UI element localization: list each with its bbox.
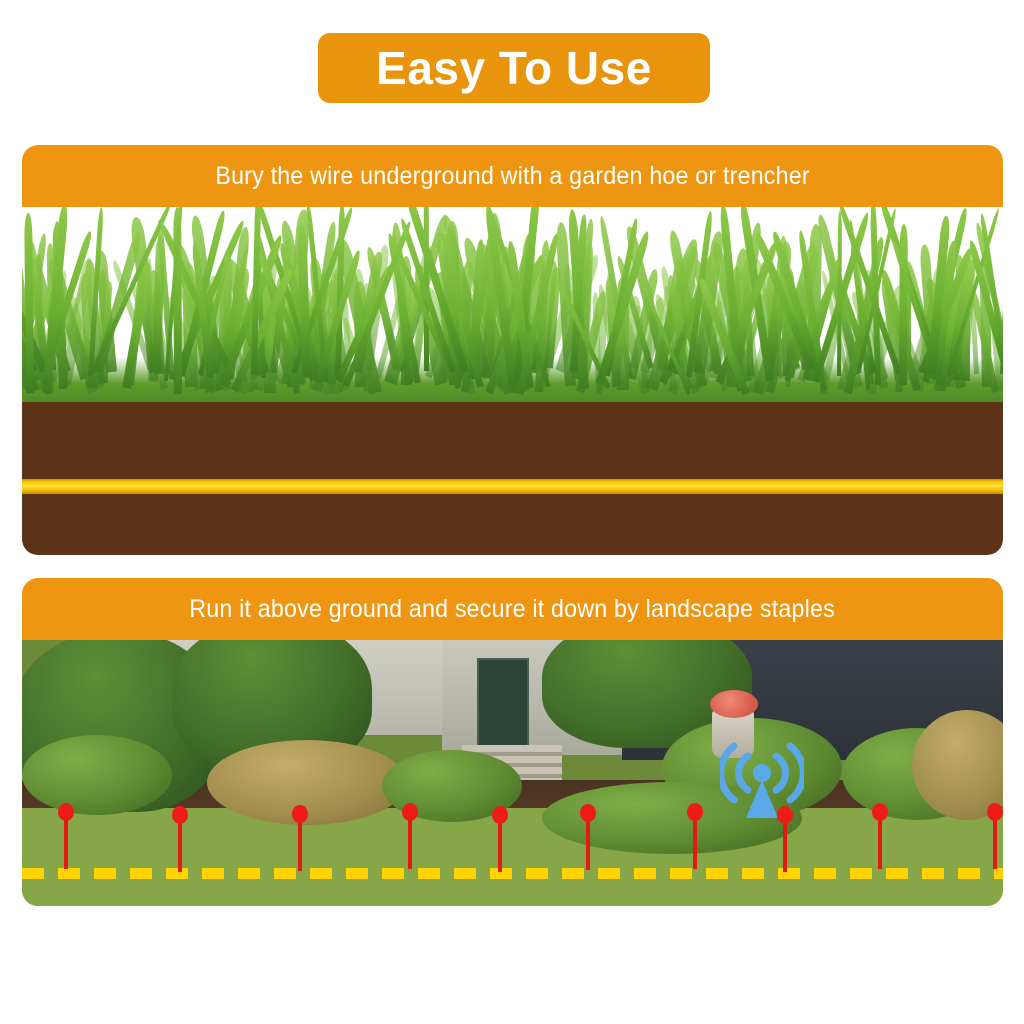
- staple-head: [580, 804, 596, 822]
- staple-stem: [498, 816, 502, 872]
- panel-bury-underground: Bury the wire underground with a garden …: [22, 145, 1003, 555]
- front-door: [477, 658, 529, 750]
- flowers: [710, 690, 758, 718]
- page-title: Easy To Use: [376, 45, 652, 91]
- staple-stem: [408, 813, 412, 869]
- staple-stem: [693, 813, 697, 869]
- lawn-photo: [22, 640, 1003, 906]
- staple-stem: [878, 813, 882, 869]
- staple-stem: [298, 815, 302, 871]
- soil-layer-upper: [22, 402, 1003, 479]
- landscape-staple: [687, 803, 703, 869]
- landscape-staple: [987, 803, 1003, 869]
- landscape-staple: [580, 804, 596, 870]
- landscape-staple: [58, 803, 74, 869]
- staple-stem: [178, 816, 182, 872]
- staple-head: [402, 803, 418, 821]
- landscape-staple: [292, 805, 308, 871]
- soil-layer-lower: [22, 494, 1003, 555]
- landscape-staple: [492, 806, 508, 872]
- landscape-staple: [872, 803, 888, 869]
- staple-head: [492, 806, 508, 824]
- caption-text: Run it above ground and secure it down b…: [190, 595, 836, 624]
- caption-text: Bury the wire underground with a garden …: [215, 162, 809, 191]
- caption-bury-underground: Bury the wire underground with a garden …: [22, 145, 1003, 207]
- staple-head: [687, 803, 703, 821]
- grass-blade: [899, 224, 907, 385]
- staple-head: [872, 803, 888, 821]
- page-title-banner: Easy To Use: [318, 33, 710, 103]
- grass-blade: [24, 213, 33, 393]
- soil-cross-section-illustration: [22, 207, 1003, 555]
- panel-above-ground: Run it above ground and secure it down b…: [22, 578, 1003, 906]
- staple-head: [987, 803, 1003, 821]
- staple-stem: [586, 814, 590, 870]
- landscape-staple: [402, 803, 418, 869]
- shrub: [22, 735, 172, 815]
- caption-above-ground: Run it above ground and secure it down b…: [22, 578, 1003, 640]
- surface-wire: [22, 868, 1003, 879]
- staple-head: [58, 803, 74, 821]
- landscape-staple: [172, 806, 188, 872]
- staple-stem: [783, 816, 787, 872]
- landscape-staple: [777, 806, 793, 872]
- buried-wire: [22, 479, 1003, 494]
- staple-head: [292, 805, 308, 823]
- staple-head: [777, 806, 793, 824]
- staple-stem: [64, 813, 68, 869]
- grass-layer: [22, 207, 1003, 402]
- staple-head: [172, 806, 188, 824]
- lawn-grass: [22, 808, 1003, 906]
- staple-stem: [993, 813, 997, 869]
